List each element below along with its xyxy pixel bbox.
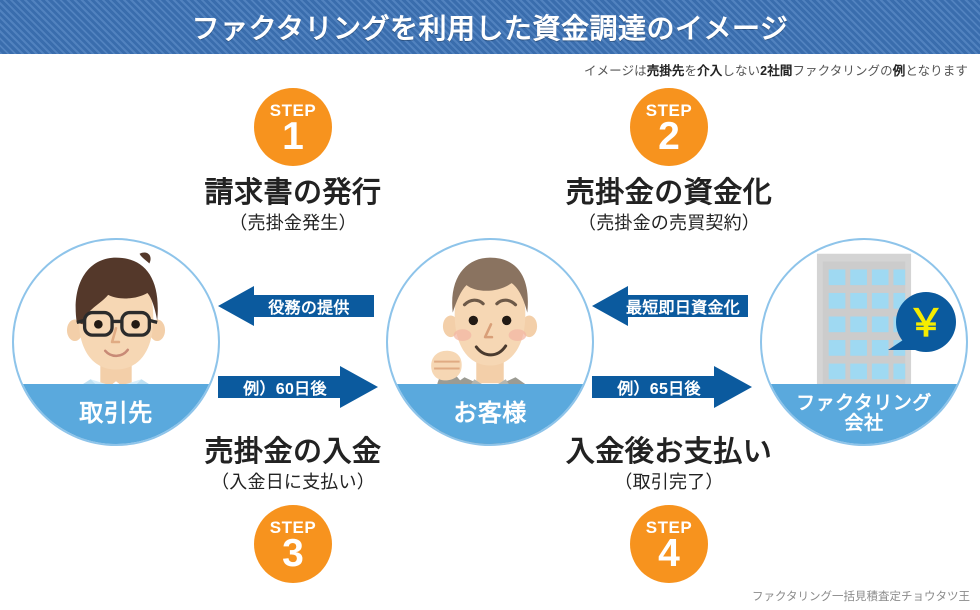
step-3-subtitle: （入金日に支払い） <box>163 471 423 494</box>
actor-customer: お客様 <box>386 238 594 446</box>
step-caption-2: 売掛金の資金化 （売掛金の売買契約） <box>524 178 814 235</box>
subtitle-prefix: イメージは <box>584 64 647 78</box>
footer-credit: ファクタリング一括見積査定チョウタツ王 <box>752 588 970 604</box>
step-badge-1: STEP 1 <box>254 88 332 166</box>
actor-factoring-label-text-2: 会社 <box>844 413 883 434</box>
step-2-number: 2 <box>658 117 680 156</box>
subtitle-mid-2: しない <box>722 64 760 78</box>
step-caption-4: 入金後お支払い （取引完了） <box>524 437 814 494</box>
subtitle-bold-4: 例 <box>893 64 906 78</box>
actor-partner-label-text: 取引先 <box>79 401 153 426</box>
actor-partner: 取引先 <box>12 238 220 446</box>
arrow-payment-65-days: 例）65日後 <box>592 366 752 408</box>
subtitle-suffix: となります <box>905 64 968 78</box>
actor-customer-label: お客様 <box>388 384 592 444</box>
subtitle-bold-3: 2社間 <box>760 64 792 78</box>
step-badge-2: STEP 2 <box>630 88 708 166</box>
arrow-left-shape-2 <box>592 286 748 326</box>
actor-factoring-label: ファクタリング 会社 <box>762 384 966 444</box>
step-3-number: 3 <box>282 534 304 573</box>
subtitle-mid-3: ファクタリングの <box>792 64 892 78</box>
step-4-number: 4 <box>658 534 680 573</box>
arrow-left-shape-1 <box>218 286 374 326</box>
arrow-right-shape-2 <box>592 366 752 408</box>
arrow-right-shape-1 <box>218 366 378 408</box>
subtitle-mid-1: を <box>685 64 698 78</box>
page-title: ファクタリングを利用した資金調達のイメージ <box>192 7 789 47</box>
step-badge-3: STEP 3 <box>254 505 332 583</box>
step-caption-1: 請求書の発行 （売掛金発生） <box>163 178 423 235</box>
subtitle-note: イメージは売掛先を介入しない2社間ファクタリングの例となります <box>584 60 968 79</box>
arrow-same-day-funding: 最短即日資金化 <box>592 286 748 326</box>
actor-factoring-company: ￥ ファクタリング 会社 <box>760 238 968 446</box>
arrow-service-provided: 役務の提供 <box>218 286 374 326</box>
arrow-payment-60-days: 例）60日後 <box>218 366 378 408</box>
yen-speech-bubble-icon: ￥ <box>882 288 964 364</box>
yen-symbol: ￥ <box>907 303 945 345</box>
subtitle-bold-2: 介入 <box>697 64 722 78</box>
actor-factoring-label-text: ファクタリング <box>796 393 932 414</box>
step-2-subtitle: （売掛金の売買契約） <box>524 212 814 235</box>
step-1-title: 請求書の発行 <box>163 178 423 210</box>
step-badge-4: STEP 4 <box>630 505 708 583</box>
infographic-canvas: ファクタリングを利用した資金調達のイメージ イメージは売掛先を介入しない2社間フ… <box>0 0 980 610</box>
actor-customer-label-text: お客様 <box>453 401 527 426</box>
actor-partner-label: 取引先 <box>14 384 218 444</box>
step-1-subtitle: （売掛金発生） <box>163 212 423 235</box>
step-1-number: 1 <box>282 117 304 156</box>
step-2-title: 売掛金の資金化 <box>524 178 814 210</box>
subtitle-bold-1: 売掛先 <box>647 64 685 78</box>
step-4-subtitle: （取引完了） <box>524 471 814 494</box>
step-caption-3: 売掛金の入金 （入金日に支払い） <box>163 437 423 494</box>
header-bar: ファクタリングを利用した資金調達のイメージ <box>0 0 980 54</box>
